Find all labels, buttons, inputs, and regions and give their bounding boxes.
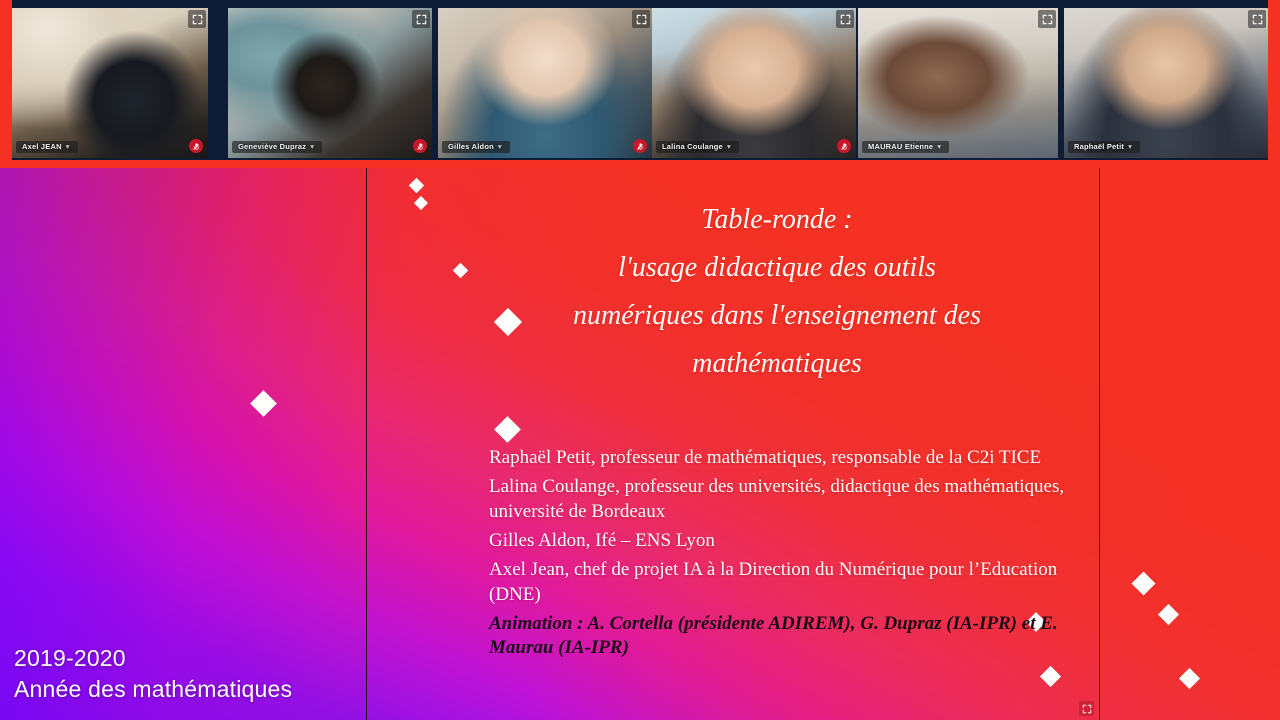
frame-strip-right [1268,0,1280,166]
expand-icon[interactable] [1038,10,1056,28]
participant-name: Gilles Aldon [448,142,494,151]
video-tile[interactable]: Axel JEAN▾ [12,8,208,158]
slide-title-line: numériques dans l'enseignement des [467,292,1087,340]
chevron-down-icon[interactable]: ▾ [498,142,502,151]
participant-name-tag[interactable]: Lalina Coulange▾ [656,141,739,153]
expand-icon[interactable] [1248,10,1266,28]
expand-icon[interactable] [188,10,206,28]
branding-year: 2019-2020 [14,643,292,673]
decor-diamond [1131,571,1155,595]
decor-diamond [1179,668,1200,689]
video-feed [438,8,652,158]
mic-muted-icon [413,139,427,153]
frame-strip-bottom [0,160,1280,168]
mic-muted-icon [633,139,647,153]
slide-body: Raphaël Petit, professeur de mathématiqu… [489,446,1089,666]
shared-slide[interactable]: Table-ronde : l'usage didactique des out… [366,166,1100,720]
participant-name-tag[interactable]: Geneviève Dupraz▾ [232,141,322,153]
chevron-down-icon[interactable]: ▾ [66,142,70,151]
participant-name-tag[interactable]: MAURAU Etienne▾ [862,141,949,153]
slide-body-line: Axel Jean, chef de projet IA à la Direct… [489,558,1089,607]
participant-name: Lalina Coulange [662,142,723,151]
mic-muted-icon [189,139,203,153]
slide-title-line: Table-ronde : [467,196,1087,244]
video-feed [858,8,1058,158]
participant-name-tag[interactable]: Gilles Aldon▾ [442,141,510,153]
participant-name-tag[interactable]: Axel JEAN▾ [16,141,78,153]
branding: 2019-2020 Année des mathématiques [14,643,292,704]
video-tile[interactable]: MAURAU Etienne▾ [858,8,1058,158]
participant-name: Axel JEAN [22,142,62,151]
video-feed [12,8,208,158]
expand-icon[interactable] [1079,701,1094,716]
video-tile[interactable]: Lalina Coulange▾ [652,8,856,158]
decor-diamond [1158,604,1179,625]
expand-icon[interactable] [632,10,650,28]
video-tile[interactable]: Gilles Aldon▾ [438,8,652,158]
chevron-down-icon[interactable]: ▾ [727,142,731,151]
video-tile[interactable]: Geneviève Dupraz▾ [228,8,432,158]
slide-animation-line: Animation : A. Cortella (présidente ADIR… [489,612,1089,661]
decor-diamond [414,196,428,210]
slide-title-line: mathématiques [467,340,1087,388]
decor-diamond [1040,666,1061,687]
video-tile[interactable]: Raphaël Petit▾ [1064,8,1268,158]
expand-icon[interactable] [412,10,430,28]
decor-diamond [250,390,277,417]
slide-body-line: Gilles Aldon, Ifé – ENS Lyon [489,529,1089,553]
chevron-down-icon[interactable]: ▾ [310,142,314,151]
decor-diamond [409,178,425,194]
branding-label: Année des mathématiques [14,674,292,704]
slide-body-line: Raphaël Petit, professeur de mathématiqu… [489,446,1089,470]
decor-diamond [494,416,521,443]
mic-muted-icon [837,139,851,153]
participant-name: Raphaël Petit [1074,142,1124,151]
slide-title-line: l'usage didactique des outils [467,244,1087,292]
slide-body-line: Lalina Coulange, professeur des universi… [489,475,1089,524]
decor-diamond [453,263,469,279]
video-feed [228,8,432,158]
chevron-down-icon[interactable]: ▾ [937,142,941,151]
expand-icon[interactable] [836,10,854,28]
participant-name-tag[interactable]: Raphaël Petit▾ [1068,141,1140,153]
video-strip: Axel JEAN▾ Geneviève Dupraz▾ [0,0,1280,166]
participant-name: Geneviève Dupraz [238,142,306,151]
video-feed [652,8,856,158]
video-feed [1064,8,1268,158]
frame-strip-left [0,0,12,166]
chevron-down-icon[interactable]: ▾ [1128,142,1132,151]
participant-name: MAURAU Etienne [868,142,933,151]
screen-root: Table-ronde : l'usage didactique des out… [0,0,1280,720]
slide-title: Table-ronde : l'usage didactique des out… [467,196,1087,389]
